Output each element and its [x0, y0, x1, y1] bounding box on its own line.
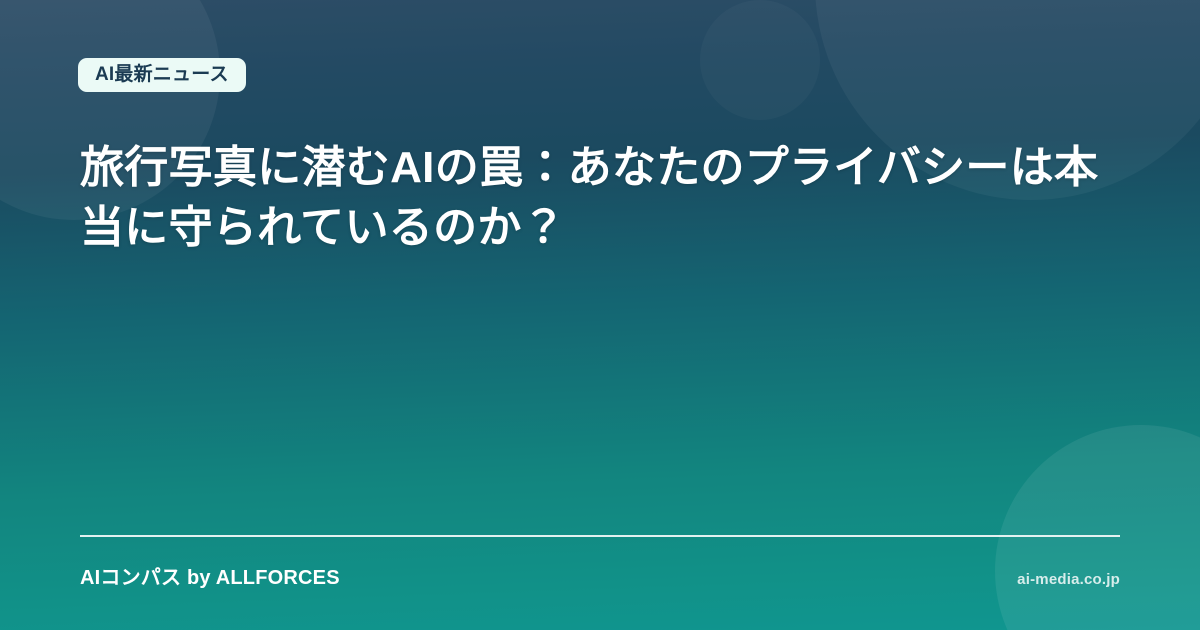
footer-divider — [80, 535, 1120, 537]
brand-name: AIコンパス by ALLFORCES — [80, 561, 340, 590]
page-title: 旅行写真に潜むAIの罠：あなたのプライバシーは本当に守られているのか？ — [80, 138, 1130, 258]
card-content: AI最新ニュース 旅行写真に潜むAIの罠：あなたのプライバシーは本当に守られてい… — [0, 0, 1200, 630]
site-url: ai-media.co.jp — [1017, 571, 1120, 588]
og-card: AI最新ニュース 旅行写真に潜むAIの罠：あなたのプライバシーは本当に守られてい… — [0, 0, 1200, 630]
card-footer: AIコンパス by ALLFORCES ai-media.co.jp — [80, 535, 1120, 590]
category-badge: AI最新ニュース — [78, 58, 246, 92]
footer-row: AIコンパス by ALLFORCES ai-media.co.jp — [80, 561, 1120, 590]
